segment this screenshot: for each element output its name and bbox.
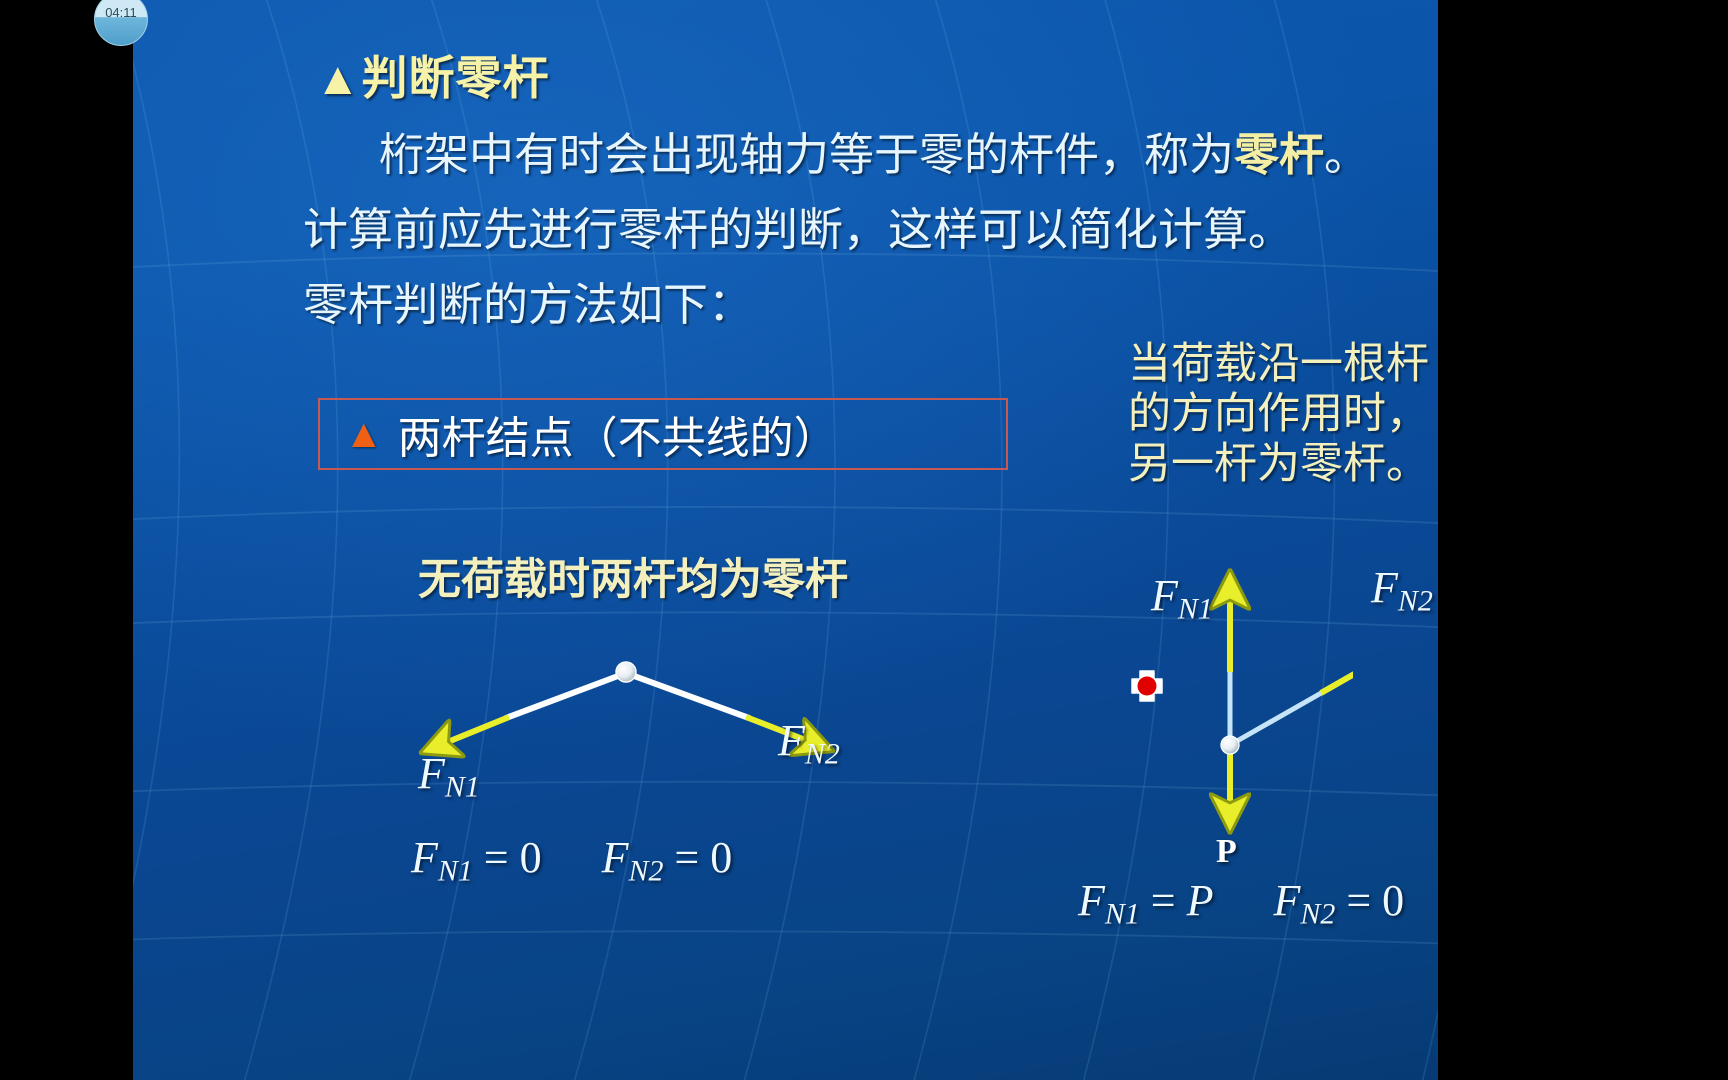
load-label-p: P — [1216, 833, 1237, 871]
paragraph-line-1-c: 。 — [1324, 130, 1369, 180]
right-label-fn1: FN1 — [1151, 570, 1213, 626]
paragraph-line-1-a: 桁架中有时会出现轴力等于零的杆件，称为 — [379, 130, 1234, 180]
left-figure-caption: 无荷载时两杆均为零杆 — [418, 545, 848, 607]
side-note-line-1: 当荷载沿一根杆 — [1128, 340, 1438, 390]
right-equation-2: FN2 = 0 — [1274, 876, 1405, 925]
left-equation-1: FN1 = 0 — [411, 833, 542, 882]
left-equation-2: FN2 = 0 — [602, 833, 733, 882]
left-label-fn1: FN1 — [418, 748, 480, 804]
side-note-line-2: 的方向作用时， — [1128, 390, 1438, 440]
triangle-bullet-icon: ▲ — [344, 414, 384, 454]
paragraph-line-3: 零杆判断的方法如下： — [303, 268, 1438, 343]
highlight-zero-bar: 零杆 — [1234, 130, 1324, 180]
timer-text: 04:11 — [105, 5, 137, 20]
right-equations: FN1 = PFN2 = 0 — [1078, 875, 1404, 931]
cursor-pointer-icon — [1126, 665, 1168, 707]
left-label-fn2: FN2 — [778, 715, 840, 771]
boxed-rule-item[interactable]: ▲ 两杆结点（不共线的） — [318, 398, 1008, 470]
triangle-marker-icon: ▲ — [315, 53, 362, 104]
paragraph-line-2: 计算前应先进行零杆的判断，这样可以简化计算。 — [303, 193, 1438, 268]
paragraph-line-1: 桁架中有时会出现轴力等于零的杆件，称为零杆。 — [303, 118, 1438, 193]
side-note: 当荷载沿一根杆 的方向作用时， 另一杆为零杆。 — [1128, 340, 1438, 490]
boxed-rule-text: 两杆结点（不共线的） — [398, 402, 838, 466]
right-label-fn2: FN2 — [1371, 562, 1433, 618]
side-note-line-3: 另一杆为零杆。 — [1128, 440, 1438, 490]
right-equation-1: FN1 = P — [1078, 876, 1214, 925]
slide-heading: ▲判断零杆 — [315, 42, 550, 108]
body-paragraph: 桁架中有时会出现轴力等于零的杆件，称为零杆。 计算前应先进行零杆的判断，这样可以… — [303, 118, 1438, 343]
presentation-slide: ▲判断零杆 桁架中有时会出现轴力等于零的杆件，称为零杆。 计算前应先进行零杆的判… — [133, 0, 1438, 1080]
slide-heading-text: 判断零杆 — [362, 53, 550, 104]
left-equations: FN1 = 0FN2 = 0 — [411, 832, 732, 888]
screen: ▲判断零杆 桁架中有时会出现轴力等于零的杆件，称为零杆。 计算前应先进行零杆的判… — [0, 0, 1728, 1080]
